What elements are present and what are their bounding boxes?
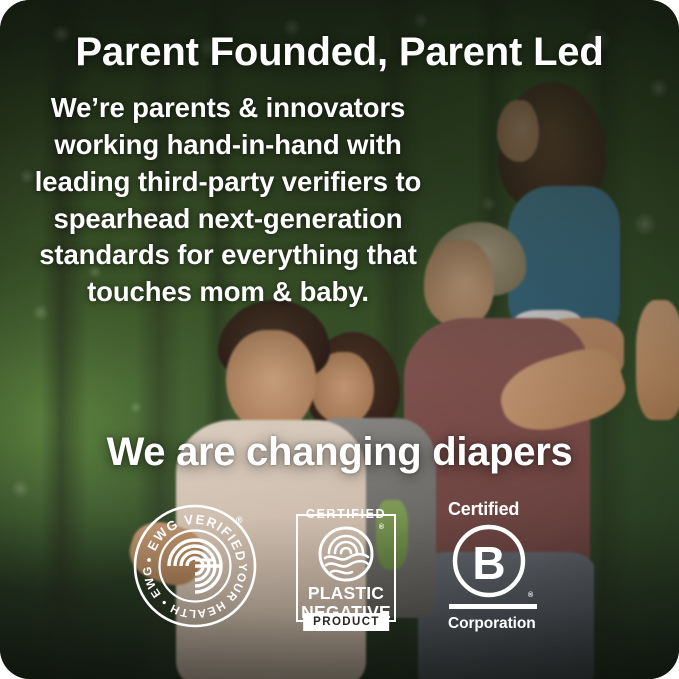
svg-text:®: ® xyxy=(236,515,243,525)
body-copy-line: We’re parents & innovators xyxy=(26,90,430,127)
body-copy-line: leading third-party verifiers to xyxy=(26,164,430,201)
badge-ewg-verified: • EWG VERIFIED FOR YOUR HEALTH • EWG.ORG… xyxy=(133,504,257,628)
plastic-negative-eyebrow: CERTIFIED xyxy=(301,504,391,524)
headline: Parent Founded, Parent Led xyxy=(0,30,679,75)
certification-badge-row: • EWG VERIFIED FOR YOUR HEALTH • EWG.ORG… xyxy=(0,498,679,648)
bcorp-registered-mark: ® xyxy=(528,592,533,599)
body-copy: We’re parents & innovators working hand-… xyxy=(26,90,430,311)
body-copy-line: working hand-in-hand with xyxy=(26,127,430,164)
ewg-verified-seal-icon: • EWG VERIFIED FOR YOUR HEALTH • EWG.ORG… xyxy=(133,504,257,628)
plastic-negative-title-line-1: PLASTIC xyxy=(292,584,400,603)
sun-over-waves-icon xyxy=(318,526,374,582)
plastic-negative-footer: PRODUCT xyxy=(303,613,389,631)
bcorp-footer: Corporation xyxy=(448,614,536,634)
promo-card: Parent Founded, Parent Led We’re parents… xyxy=(0,0,679,679)
badge-plastic-negative: CERTIFIED ® PL xyxy=(292,504,400,630)
body-copy-line: touches mom & baby. xyxy=(26,274,430,311)
svg-text:B: B xyxy=(472,537,505,589)
bcorp-eyebrow: Certified xyxy=(448,498,519,520)
body-copy-line: standards for everything that xyxy=(26,237,430,274)
tagline: We are changing diapers xyxy=(0,430,679,474)
circled-b-icon: B xyxy=(452,524,526,598)
badge-b-corporation: Certified B ® Corporation xyxy=(444,498,542,638)
plastic-negative-registered-mark: ® xyxy=(379,524,384,531)
body-copy-line: spearhead next-generation xyxy=(26,201,430,238)
bcorp-divider-bar xyxy=(449,604,537,609)
